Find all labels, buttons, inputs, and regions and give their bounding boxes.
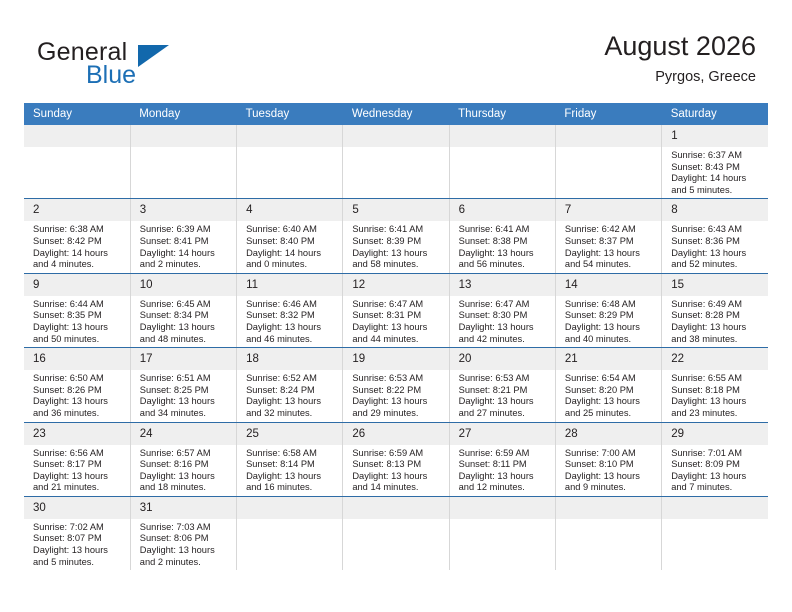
day-number: 10 (131, 274, 236, 296)
day-details: Sunrise: 7:01 AMSunset: 8:09 PMDaylight:… (662, 445, 768, 496)
day-detail-line: Sunrise: 6:48 AM (565, 299, 655, 311)
calendar-day-cell[interactable]: 5Sunrise: 6:41 AMSunset: 8:39 PMDaylight… (343, 199, 449, 273)
calendar-day-cell[interactable]: 3Sunrise: 6:39 AMSunset: 8:41 PMDaylight… (130, 199, 236, 273)
calendar-day-cell[interactable]: 2Sunrise: 6:38 AMSunset: 8:42 PMDaylight… (24, 199, 130, 273)
day-detail-line: Daylight: 13 hours (33, 396, 124, 408)
calendar-day-cell[interactable]: 11Sunrise: 6:46 AMSunset: 8:32 PMDayligh… (237, 273, 343, 347)
day-detail-line: Sunrise: 7:02 AM (33, 522, 124, 534)
day-detail-line: Sunrise: 6:41 AM (352, 224, 442, 236)
weekday-header-tuesday: Tuesday (237, 103, 343, 125)
day-detail-line: Daylight: 14 hours (671, 173, 762, 185)
day-number: 20 (450, 348, 555, 370)
day-details: Sunrise: 6:56 AMSunset: 8:17 PMDaylight:… (24, 445, 130, 496)
brand-logo[interactable]: General Blue (37, 38, 257, 90)
calendar-day-cell[interactable]: 16Sunrise: 6:50 AMSunset: 8:26 PMDayligh… (24, 348, 130, 422)
day-detail-line: Sunset: 8:29 PM (565, 310, 655, 322)
day-detail-line: Sunrise: 6:51 AM (140, 373, 230, 385)
day-details: Sunrise: 7:00 AMSunset: 8:10 PMDaylight:… (556, 445, 661, 496)
day-detail-line: and 2 minutes. (140, 557, 230, 569)
calendar-day-cell[interactable]: 7Sunrise: 6:42 AMSunset: 8:37 PMDaylight… (555, 199, 661, 273)
day-number: 26 (343, 423, 448, 445)
day-number: 6 (450, 199, 555, 221)
day-detail-line: Sunset: 8:31 PM (352, 310, 442, 322)
calendar-day-cell[interactable]: 21Sunrise: 6:54 AMSunset: 8:20 PMDayligh… (555, 348, 661, 422)
day-detail-line: Daylight: 13 hours (352, 322, 442, 334)
day-detail-line: Sunrise: 6:47 AM (459, 299, 549, 311)
day-number (450, 497, 555, 519)
day-number: 4 (237, 199, 342, 221)
day-detail-line: Daylight: 14 hours (33, 248, 124, 260)
day-number: 8 (662, 199, 768, 221)
day-number: 23 (24, 423, 130, 445)
calendar-day-cell[interactable]: 27Sunrise: 6:59 AMSunset: 8:11 PMDayligh… (449, 422, 555, 496)
calendar-day-cell[interactable]: 20Sunrise: 6:53 AMSunset: 8:21 PMDayligh… (449, 348, 555, 422)
day-detail-line: and 58 minutes. (352, 259, 442, 271)
calendar-day-cell[interactable]: 15Sunrise: 6:49 AMSunset: 8:28 PMDayligh… (662, 273, 768, 347)
day-number (556, 125, 661, 147)
day-detail-line: Sunset: 8:14 PM (246, 459, 336, 471)
calendar-week-row: 16Sunrise: 6:50 AMSunset: 8:26 PMDayligh… (24, 348, 768, 422)
day-detail-line: Daylight: 13 hours (33, 545, 124, 557)
day-detail-line: Daylight: 13 hours (246, 396, 336, 408)
day-number (237, 497, 342, 519)
day-detail-line: Sunset: 8:26 PM (33, 385, 124, 397)
calendar-empty-cell (555, 125, 661, 199)
day-detail-line: Daylight: 13 hours (246, 471, 336, 483)
day-detail-line: Sunset: 8:38 PM (459, 236, 549, 248)
day-detail-line: and 4 minutes. (33, 259, 124, 271)
day-detail-line: Sunset: 8:07 PM (33, 533, 124, 545)
calendar-day-cell[interactable]: 9Sunrise: 6:44 AMSunset: 8:35 PMDaylight… (24, 273, 130, 347)
day-number: 19 (343, 348, 448, 370)
calendar-week-row: 30Sunrise: 7:02 AMSunset: 8:07 PMDayligh… (24, 496, 768, 570)
calendar-day-cell[interactable]: 31Sunrise: 7:03 AMSunset: 8:06 PMDayligh… (130, 496, 236, 570)
day-detail-line: Sunset: 8:22 PM (352, 385, 442, 397)
day-number: 15 (662, 274, 768, 296)
calendar-day-cell[interactable]: 1Sunrise: 6:37 AMSunset: 8:43 PMDaylight… (662, 125, 768, 199)
day-details: Sunrise: 6:37 AMSunset: 8:43 PMDaylight:… (662, 147, 768, 198)
day-detail-line: and 38 minutes. (671, 334, 762, 346)
calendar-day-cell[interactable]: 6Sunrise: 6:41 AMSunset: 8:38 PMDaylight… (449, 199, 555, 273)
day-details: Sunrise: 6:38 AMSunset: 8:42 PMDaylight:… (24, 221, 130, 272)
calendar-day-cell[interactable]: 17Sunrise: 6:51 AMSunset: 8:25 PMDayligh… (130, 348, 236, 422)
day-detail-line: Daylight: 13 hours (565, 248, 655, 260)
day-details: Sunrise: 6:58 AMSunset: 8:14 PMDaylight:… (237, 445, 342, 496)
day-detail-line: Sunrise: 6:57 AM (140, 448, 230, 460)
day-detail-line: Daylight: 13 hours (140, 471, 230, 483)
page-header: General Blue August 2026 Pyrgos, Greece (0, 0, 792, 103)
day-detail-line: Daylight: 13 hours (33, 471, 124, 483)
day-detail-line: and 0 minutes. (246, 259, 336, 271)
day-detail-line: and 16 minutes. (246, 482, 336, 494)
calendar-empty-cell (237, 496, 343, 570)
page-subtitle: Pyrgos, Greece (604, 68, 756, 86)
day-number (237, 125, 342, 147)
day-number (24, 125, 130, 147)
weekday-header-saturday: Saturday (662, 103, 768, 125)
day-detail-line: Sunset: 8:20 PM (565, 385, 655, 397)
day-details: Sunrise: 6:49 AMSunset: 8:28 PMDaylight:… (662, 296, 768, 347)
day-number (131, 125, 236, 147)
day-detail-line: and 42 minutes. (459, 334, 549, 346)
day-details: Sunrise: 6:39 AMSunset: 8:41 PMDaylight:… (131, 221, 236, 272)
day-detail-line: and 40 minutes. (565, 334, 655, 346)
day-number: 27 (450, 423, 555, 445)
day-details: Sunrise: 6:53 AMSunset: 8:21 PMDaylight:… (450, 370, 555, 421)
day-detail-line: and 9 minutes. (565, 482, 655, 494)
day-detail-line: and 2 minutes. (140, 259, 230, 271)
day-detail-line: Sunrise: 7:01 AM (671, 448, 762, 460)
day-details: Sunrise: 6:59 AMSunset: 8:13 PMDaylight:… (343, 445, 448, 496)
calendar-day-cell[interactable]: 26Sunrise: 6:59 AMSunset: 8:13 PMDayligh… (343, 422, 449, 496)
calendar-page: General Blue August 2026 Pyrgos, Greece … (0, 0, 792, 612)
day-number: 2 (24, 199, 130, 221)
day-detail-line: Daylight: 13 hours (140, 396, 230, 408)
day-detail-line: Sunset: 8:30 PM (459, 310, 549, 322)
day-detail-line: Sunset: 8:18 PM (671, 385, 762, 397)
day-number: 7 (556, 199, 661, 221)
day-detail-line: Daylight: 13 hours (671, 396, 762, 408)
day-detail-line: Sunset: 8:42 PM (33, 236, 124, 248)
calendar-day-cell[interactable]: 23Sunrise: 6:56 AMSunset: 8:17 PMDayligh… (24, 422, 130, 496)
day-details: Sunrise: 6:41 AMSunset: 8:39 PMDaylight:… (343, 221, 448, 272)
day-detail-line: Sunrise: 6:43 AM (671, 224, 762, 236)
day-details: Sunrise: 6:40 AMSunset: 8:40 PMDaylight:… (237, 221, 342, 272)
day-number: 11 (237, 274, 342, 296)
day-detail-line: Daylight: 14 hours (140, 248, 230, 260)
page-title: August 2026 (604, 30, 756, 62)
day-detail-line: Sunset: 8:40 PM (246, 236, 336, 248)
day-detail-line: and 27 minutes. (459, 408, 549, 420)
day-detail-line: Sunset: 8:39 PM (352, 236, 442, 248)
day-detail-line: and 23 minutes. (671, 408, 762, 420)
day-detail-line: and 52 minutes. (671, 259, 762, 271)
day-number: 28 (556, 423, 661, 445)
calendar-week-row: 2Sunrise: 6:38 AMSunset: 8:42 PMDaylight… (24, 199, 768, 273)
day-number: 25 (237, 423, 342, 445)
day-detail-line: Daylight: 13 hours (459, 322, 549, 334)
day-details: Sunrise: 6:41 AMSunset: 8:38 PMDaylight:… (450, 221, 555, 272)
weekday-header-thursday: Thursday (449, 103, 555, 125)
day-details: Sunrise: 6:47 AMSunset: 8:31 PMDaylight:… (343, 296, 448, 347)
day-detail-line: Sunrise: 6:56 AM (33, 448, 124, 460)
brand-name-blue: Blue (86, 61, 136, 90)
calendar-week-row: 23Sunrise: 6:56 AMSunset: 8:17 PMDayligh… (24, 422, 768, 496)
day-number: 17 (131, 348, 236, 370)
day-detail-line: Sunrise: 6:37 AM (671, 150, 762, 162)
day-details: Sunrise: 6:50 AMSunset: 8:26 PMDaylight:… (24, 370, 130, 421)
day-detail-line: Daylight: 13 hours (565, 471, 655, 483)
day-detail-line: and 7 minutes. (671, 482, 762, 494)
calendar-empty-cell (555, 496, 661, 570)
weekday-header-monday: Monday (130, 103, 236, 125)
day-detail-line: Sunrise: 6:53 AM (352, 373, 442, 385)
day-detail-line: Sunrise: 7:03 AM (140, 522, 230, 534)
day-detail-line: Sunrise: 6:38 AM (33, 224, 124, 236)
calendar-day-cell[interactable]: 8Sunrise: 6:43 AMSunset: 8:36 PMDaylight… (662, 199, 768, 273)
day-detail-line: Sunrise: 6:40 AM (246, 224, 336, 236)
day-details: Sunrise: 6:43 AMSunset: 8:36 PMDaylight:… (662, 221, 768, 272)
day-details: Sunrise: 6:54 AMSunset: 8:20 PMDaylight:… (556, 370, 661, 421)
day-detail-line: Sunset: 8:43 PM (671, 162, 762, 174)
day-detail-line: Daylight: 13 hours (671, 322, 762, 334)
day-detail-line: Sunrise: 6:55 AM (671, 373, 762, 385)
calendar-day-cell[interactable]: 22Sunrise: 6:55 AMSunset: 8:18 PMDayligh… (662, 348, 768, 422)
day-detail-line: Sunset: 8:13 PM (352, 459, 442, 471)
day-detail-line: Daylight: 14 hours (246, 248, 336, 260)
day-detail-line: Sunset: 8:34 PM (140, 310, 230, 322)
day-number: 13 (450, 274, 555, 296)
day-detail-line: and 14 minutes. (352, 482, 442, 494)
calendar-empty-cell (662, 496, 768, 570)
calendar-empty-cell (130, 125, 236, 199)
day-detail-line: Sunrise: 6:42 AM (565, 224, 655, 236)
day-detail-line: Sunset: 8:10 PM (565, 459, 655, 471)
day-detail-line: Sunset: 8:21 PM (459, 385, 549, 397)
day-detail-line: Sunrise: 6:52 AM (246, 373, 336, 385)
day-number: 9 (24, 274, 130, 296)
calendar-empty-cell (237, 125, 343, 199)
day-detail-line: and 32 minutes. (246, 408, 336, 420)
day-detail-line: Sunrise: 6:41 AM (459, 224, 549, 236)
day-details: Sunrise: 6:42 AMSunset: 8:37 PMDaylight:… (556, 221, 661, 272)
day-details: Sunrise: 7:02 AMSunset: 8:07 PMDaylight:… (24, 519, 130, 570)
day-detail-line: Sunrise: 6:59 AM (352, 448, 442, 460)
day-details: Sunrise: 6:46 AMSunset: 8:32 PMDaylight:… (237, 296, 342, 347)
weekday-header-friday: Friday (555, 103, 661, 125)
day-detail-line: Daylight: 13 hours (246, 322, 336, 334)
day-detail-line: Sunrise: 6:46 AM (246, 299, 336, 311)
day-number (450, 125, 555, 147)
calendar-day-cell[interactable]: 14Sunrise: 6:48 AMSunset: 8:29 PMDayligh… (555, 273, 661, 347)
day-detail-line: Daylight: 13 hours (459, 248, 549, 260)
weekday-header-wednesday: Wednesday (343, 103, 449, 125)
day-detail-line: Daylight: 13 hours (352, 471, 442, 483)
day-number: 30 (24, 497, 130, 519)
weekday-header-sunday: Sunday (24, 103, 130, 125)
day-detail-line: and 18 minutes. (140, 482, 230, 494)
day-details: Sunrise: 7:03 AMSunset: 8:06 PMDaylight:… (131, 519, 236, 570)
day-detail-line: Sunset: 8:11 PM (459, 459, 549, 471)
day-detail-line: Daylight: 13 hours (140, 322, 230, 334)
day-number: 16 (24, 348, 130, 370)
day-number: 24 (131, 423, 236, 445)
day-detail-line: Daylight: 13 hours (565, 322, 655, 334)
day-details: Sunrise: 6:52 AMSunset: 8:24 PMDaylight:… (237, 370, 342, 421)
day-detail-line: Daylight: 13 hours (459, 396, 549, 408)
day-detail-line: Sunrise: 6:47 AM (352, 299, 442, 311)
calendar-day-cell[interactable]: 4Sunrise: 6:40 AMSunset: 8:40 PMDaylight… (237, 199, 343, 273)
day-detail-line: Sunset: 8:37 PM (565, 236, 655, 248)
day-number (662, 497, 768, 519)
day-details: Sunrise: 6:48 AMSunset: 8:29 PMDaylight:… (556, 296, 661, 347)
title-block: August 2026 Pyrgos, Greece (604, 30, 756, 86)
day-detail-line: Sunset: 8:28 PM (671, 310, 762, 322)
day-details: Sunrise: 6:47 AMSunset: 8:30 PMDaylight:… (450, 296, 555, 347)
day-detail-line: Daylight: 13 hours (140, 545, 230, 557)
day-detail-line: Daylight: 13 hours (459, 471, 549, 483)
day-details: Sunrise: 6:59 AMSunset: 8:11 PMDaylight:… (450, 445, 555, 496)
calendar-empty-cell (449, 125, 555, 199)
calendar-header-row: SundayMondayTuesdayWednesdayThursdayFrid… (24, 103, 768, 125)
calendar-empty-cell (343, 496, 449, 570)
calendar-week-row: 9Sunrise: 6:44 AMSunset: 8:35 PMDaylight… (24, 273, 768, 347)
day-detail-line: Sunrise: 7:00 AM (565, 448, 655, 460)
day-number: 1 (662, 125, 768, 147)
calendar-day-cell[interactable]: 12Sunrise: 6:47 AMSunset: 8:31 PMDayligh… (343, 273, 449, 347)
calendar-day-cell[interactable]: 24Sunrise: 6:57 AMSunset: 8:16 PMDayligh… (130, 422, 236, 496)
day-detail-line: Daylight: 13 hours (671, 471, 762, 483)
day-detail-line: Sunrise: 6:39 AM (140, 224, 230, 236)
day-detail-line: Sunrise: 6:53 AM (459, 373, 549, 385)
calendar-grid: SundayMondayTuesdayWednesdayThursdayFrid… (24, 103, 768, 570)
day-detail-line: and 54 minutes. (565, 259, 655, 271)
day-detail-line: Daylight: 13 hours (671, 248, 762, 260)
day-detail-line: Sunset: 8:41 PM (140, 236, 230, 248)
day-detail-line: Sunrise: 6:45 AM (140, 299, 230, 311)
day-number: 18 (237, 348, 342, 370)
day-detail-line: Sunset: 8:24 PM (246, 385, 336, 397)
day-detail-line: Sunset: 8:09 PM (671, 459, 762, 471)
day-number: 12 (343, 274, 448, 296)
day-detail-line: Sunrise: 6:44 AM (33, 299, 124, 311)
day-detail-line: Sunset: 8:36 PM (671, 236, 762, 248)
day-detail-line: Sunset: 8:16 PM (140, 459, 230, 471)
triangle-flag-icon (138, 45, 169, 67)
calendar-day-cell[interactable]: 29Sunrise: 7:01 AMSunset: 8:09 PMDayligh… (662, 422, 768, 496)
day-detail-line: and 5 minutes. (671, 185, 762, 197)
day-detail-line: Sunrise: 6:50 AM (33, 373, 124, 385)
day-detail-line: and 50 minutes. (33, 334, 124, 346)
day-detail-line: Sunset: 8:25 PM (140, 385, 230, 397)
day-details: Sunrise: 6:51 AMSunset: 8:25 PMDaylight:… (131, 370, 236, 421)
day-detail-line: Daylight: 13 hours (565, 396, 655, 408)
day-detail-line: Sunset: 8:17 PM (33, 459, 124, 471)
calendar-empty-cell (24, 125, 130, 199)
day-detail-line: and 12 minutes. (459, 482, 549, 494)
day-detail-line: Sunrise: 6:59 AM (459, 448, 549, 460)
day-detail-line: and 34 minutes. (140, 408, 230, 420)
day-number: 5 (343, 199, 448, 221)
day-details: Sunrise: 6:53 AMSunset: 8:22 PMDaylight:… (343, 370, 448, 421)
day-number: 22 (662, 348, 768, 370)
day-detail-line: and 36 minutes. (33, 408, 124, 420)
calendar-day-cell[interactable]: 10Sunrise: 6:45 AMSunset: 8:34 PMDayligh… (130, 273, 236, 347)
calendar-day-cell[interactable]: 25Sunrise: 6:58 AMSunset: 8:14 PMDayligh… (237, 422, 343, 496)
day-detail-line: and 44 minutes. (352, 334, 442, 346)
day-detail-line: Daylight: 13 hours (352, 396, 442, 408)
day-number: 14 (556, 274, 661, 296)
day-detail-line: and 21 minutes. (33, 482, 124, 494)
calendar-week-row: 1Sunrise: 6:37 AMSunset: 8:43 PMDaylight… (24, 125, 768, 199)
day-number: 3 (131, 199, 236, 221)
day-detail-line: Sunset: 8:06 PM (140, 533, 230, 545)
day-details: Sunrise: 6:55 AMSunset: 8:18 PMDaylight:… (662, 370, 768, 421)
calendar-empty-cell (449, 496, 555, 570)
day-number (343, 497, 448, 519)
day-detail-line: Daylight: 13 hours (33, 322, 124, 334)
day-details: Sunrise: 6:57 AMSunset: 8:16 PMDaylight:… (131, 445, 236, 496)
day-details: Sunrise: 6:45 AMSunset: 8:34 PMDaylight:… (131, 296, 236, 347)
calendar-day-cell[interactable]: 18Sunrise: 6:52 AMSunset: 8:24 PMDayligh… (237, 348, 343, 422)
day-detail-line: and 5 minutes. (33, 557, 124, 569)
calendar-body: 1Sunrise: 6:37 AMSunset: 8:43 PMDaylight… (24, 125, 768, 570)
day-detail-line: Daylight: 13 hours (352, 248, 442, 260)
calendar-day-cell[interactable]: 28Sunrise: 7:00 AMSunset: 8:10 PMDayligh… (555, 422, 661, 496)
day-number (556, 497, 661, 519)
day-detail-line: Sunrise: 6:58 AM (246, 448, 336, 460)
day-detail-line: Sunset: 8:32 PM (246, 310, 336, 322)
day-detail-line: and 29 minutes. (352, 408, 442, 420)
calendar-day-cell[interactable]: 13Sunrise: 6:47 AMSunset: 8:30 PMDayligh… (449, 273, 555, 347)
day-number: 29 (662, 423, 768, 445)
day-detail-line: and 25 minutes. (565, 408, 655, 420)
day-number: 21 (556, 348, 661, 370)
day-detail-line: Sunrise: 6:49 AM (671, 299, 762, 311)
calendar-day-cell[interactable]: 19Sunrise: 6:53 AMSunset: 8:22 PMDayligh… (343, 348, 449, 422)
calendar-empty-cell (343, 125, 449, 199)
calendar-day-cell[interactable]: 30Sunrise: 7:02 AMSunset: 8:07 PMDayligh… (24, 496, 130, 570)
day-detail-line: Sunrise: 6:54 AM (565, 373, 655, 385)
day-detail-line: and 56 minutes. (459, 259, 549, 271)
day-details: Sunrise: 6:44 AMSunset: 8:35 PMDaylight:… (24, 296, 130, 347)
day-detail-line: Sunset: 8:35 PM (33, 310, 124, 322)
day-detail-line: and 46 minutes. (246, 334, 336, 346)
day-number (343, 125, 448, 147)
day-detail-line: and 48 minutes. (140, 334, 230, 346)
day-number: 31 (131, 497, 236, 519)
